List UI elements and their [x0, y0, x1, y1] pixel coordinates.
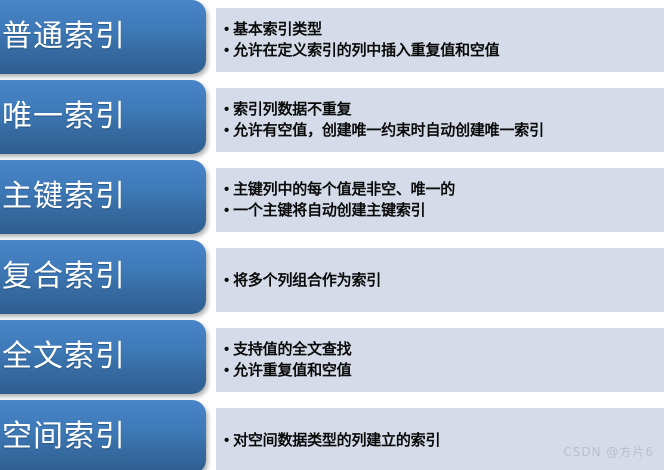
bullet-text: 基本索引类型: [233, 19, 322, 40]
index-type-label: 空间索引: [2, 420, 126, 454]
description-panel: • 对空间数据类型的列建立的索引: [216, 408, 664, 470]
index-type-label: 全文索引: [2, 340, 126, 374]
description-panel: • 基本索引类型 • 允许在定义索引的列中插入重复值和空值: [216, 8, 664, 72]
bullet-text: 允许重复值和空值: [233, 360, 351, 381]
bullet-dot-icon: •: [224, 40, 229, 61]
bullet-item: • 允许重复值和空值: [224, 360, 658, 381]
index-type-label: 复合索引: [2, 260, 126, 294]
index-type-row: • 主键列中的每个值是非空、唯一的 • 一个主键将自动创建主键索引 主键索引: [0, 160, 664, 238]
bullet-item: • 将多个列组合作为索引: [224, 270, 658, 291]
description-panel: • 主键列中的每个值是非空、唯一的 • 一个主键将自动创建主键索引: [216, 168, 664, 232]
index-type-label-pill: 空间索引: [0, 400, 206, 470]
bullet-dot-icon: •: [224, 19, 229, 40]
bullet-text: 对空间数据类型的列建立的索引: [233, 430, 440, 451]
index-type-label: 主键索引: [2, 180, 126, 214]
bullet-text: 一个主键将自动创建主键索引: [233, 200, 425, 221]
bullet-item: • 索引列数据不重复: [224, 99, 658, 120]
bullet-dot-icon: •: [224, 339, 229, 360]
bullet-dot-icon: •: [224, 120, 229, 141]
index-type-row: • 基本索引类型 • 允许在定义索引的列中插入重复值和空值 普通索引: [0, 0, 664, 78]
bullet-item: • 允许有空值，创建唯一约束时自动创建唯一索引: [224, 120, 658, 141]
index-type-row: • 支持值的全文查找 • 允许重复值和空值 全文索引: [0, 320, 664, 398]
index-type-label: 普通索引: [2, 20, 126, 54]
bullet-dot-icon: •: [224, 360, 229, 381]
description-panel: • 将多个列组合作为索引: [216, 248, 664, 312]
index-type-row: • 索引列数据不重复 • 允许有空值，创建唯一约束时自动创建唯一索引 唯一索引: [0, 80, 664, 158]
bullet-item: • 支持值的全文查找: [224, 339, 658, 360]
index-type-label-pill: 复合索引: [0, 240, 206, 314]
index-type-label-pill: 主键索引: [0, 160, 206, 234]
bullet-item: • 主键列中的每个值是非空、唯一的: [224, 179, 658, 200]
description-panel: • 索引列数据不重复 • 允许有空值，创建唯一约束时自动创建唯一索引: [216, 88, 664, 152]
bullet-dot-icon: •: [224, 430, 229, 451]
bullet-item: • 基本索引类型: [224, 19, 658, 40]
bullet-text: 允许在定义索引的列中插入重复值和空值: [233, 40, 499, 61]
index-type-row: • 将多个列组合作为索引 复合索引: [0, 240, 664, 318]
bullet-text: 索引列数据不重复: [233, 99, 351, 120]
bullet-item: • 一个主键将自动创建主键索引: [224, 200, 658, 221]
index-type-label-pill: 普通索引: [0, 0, 206, 74]
bullet-dot-icon: •: [224, 200, 229, 221]
bullet-text: 主键列中的每个值是非空、唯一的: [233, 179, 455, 200]
index-type-label-pill: 唯一索引: [0, 80, 206, 154]
bullet-dot-icon: •: [224, 179, 229, 200]
bullet-dot-icon: •: [224, 270, 229, 291]
bullet-dot-icon: •: [224, 99, 229, 120]
bullet-text: 支持值的全文查找: [233, 339, 351, 360]
index-type-label: 唯一索引: [2, 100, 126, 134]
csdn-watermark: CSDN @方片6: [563, 443, 654, 460]
index-type-label-pill: 全文索引: [0, 320, 206, 394]
bullet-text: 将多个列组合作为索引: [233, 270, 381, 291]
index-types-slide: • 基本索引类型 • 允许在定义索引的列中插入重复值和空值 普通索引 • 索引列…: [0, 0, 664, 470]
description-panel: • 支持值的全文查找 • 允许重复值和空值: [216, 328, 664, 392]
bullet-text: 允许有空值，创建唯一约束时自动创建唯一索引: [233, 120, 544, 141]
bullet-item: • 允许在定义索引的列中插入重复值和空值: [224, 40, 658, 61]
